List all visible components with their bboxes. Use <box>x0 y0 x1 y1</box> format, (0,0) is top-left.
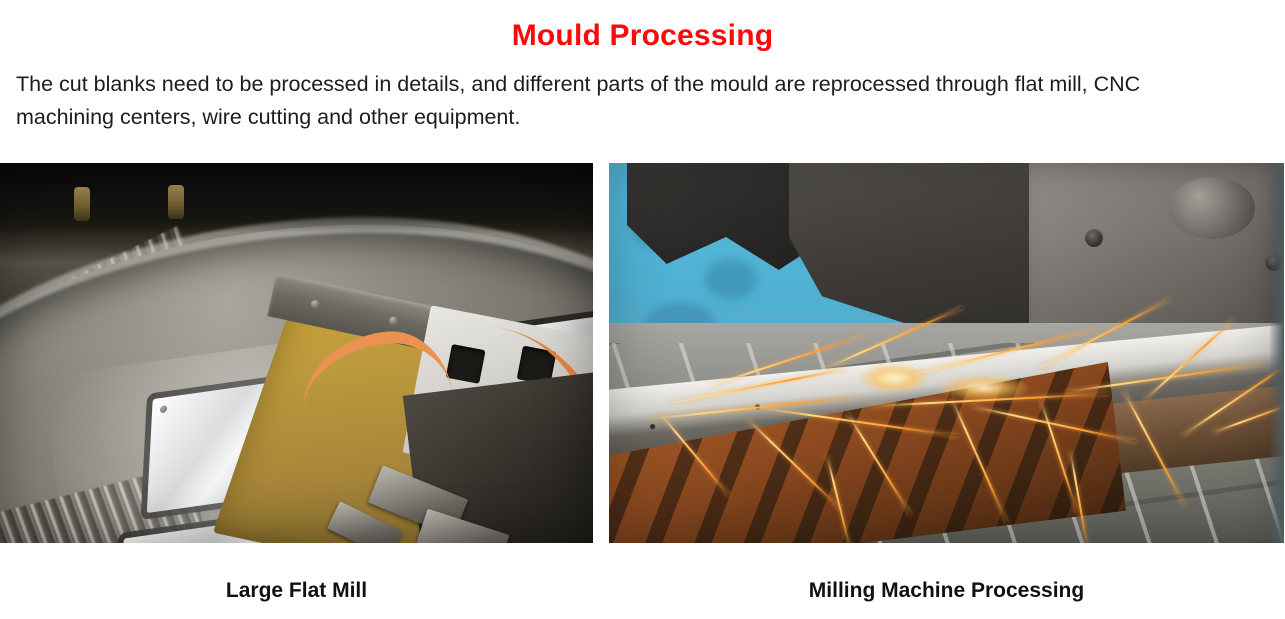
image-gallery <box>0 163 1285 543</box>
caption-milling-machine-processing: Milling Machine Processing <box>609 543 1284 619</box>
caption-large-flat-mill: Large Flat Mill <box>0 543 593 619</box>
photo-vignette <box>609 163 1284 543</box>
section-description: The cut blanks need to be processed in d… <box>0 54 1245 134</box>
caption-row: Large Flat Mill Milling Machine Processi… <box>0 543 1285 619</box>
photo-right-edge <box>1270 163 1284 543</box>
large-flat-mill-photo <box>0 163 593 543</box>
mould-processing-section: Mould Processing The cut blanks need to … <box>0 0 1285 619</box>
photo-vignette <box>0 163 593 543</box>
page-title: Mould Processing <box>0 0 1285 54</box>
milling-machine-processing-photo <box>609 163 1284 543</box>
